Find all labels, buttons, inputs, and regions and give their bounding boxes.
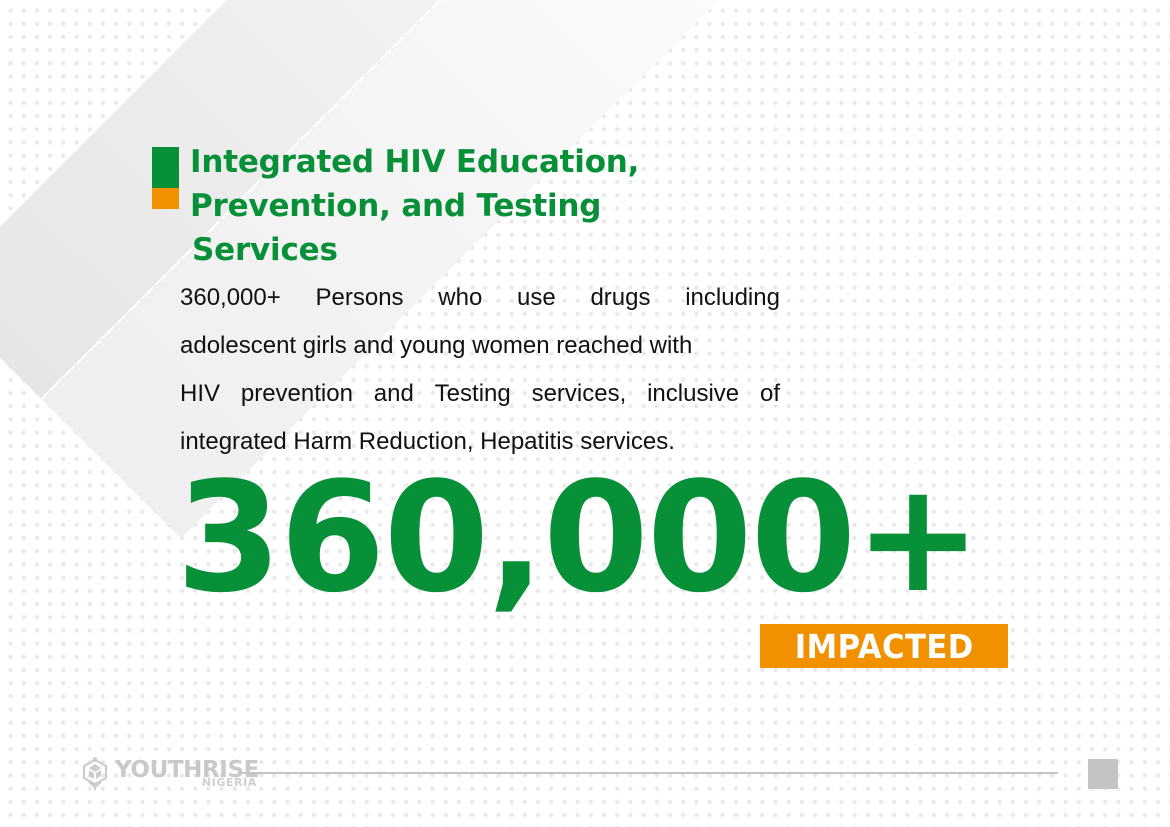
title-line-2: Prevention, and Testing — [190, 184, 972, 228]
body-word: inclusive — [647, 370, 739, 418]
slide-canvas: Integrated HIV Education, Prevention, an… — [0, 0, 1170, 827]
title-marker — [152, 147, 179, 209]
body-word: HIV — [180, 370, 220, 418]
progress-handle[interactable] — [1088, 759, 1118, 789]
stat-number: 360,000+ — [176, 462, 980, 614]
title-line-3: Services — [190, 228, 972, 272]
body-word: of — [760, 370, 780, 418]
body-word: who — [438, 274, 482, 322]
body-word: drugs — [590, 274, 650, 322]
page-title: Integrated HIV Education, Prevention, an… — [152, 140, 972, 272]
body-line-2: adolescent girls and young women reached… — [180, 322, 780, 370]
title-marker-green-square — [152, 147, 179, 188]
body-word: use — [517, 274, 556, 322]
youthrise-cube-icon — [80, 757, 110, 791]
body-line-3: HIV prevention and Testing services, inc… — [180, 370, 780, 418]
body-word: Persons — [316, 274, 404, 322]
title-block: Integrated HIV Education, Prevention, an… — [152, 140, 972, 272]
body-word: Testing — [435, 370, 511, 418]
footer: YOUTHRISE NIGERIA — [0, 752, 1170, 800]
title-marker-orange-square — [152, 188, 179, 209]
progress-track[interactable] — [238, 772, 1058, 774]
status-badge: IMPACTED — [760, 624, 1008, 668]
brand-wordmark: YOUTHRISE NIGERIA — [115, 757, 259, 791]
title-line-1: Integrated HIV Education, — [190, 140, 972, 184]
brand-subtitle: NIGERIA — [202, 777, 257, 788]
body-word: prevention — [241, 370, 353, 418]
status-badge-label: IMPACTED — [794, 630, 973, 663]
body-word: including — [685, 274, 780, 322]
body-word: 360,000+ — [180, 274, 281, 322]
body-word: services, — [532, 370, 627, 418]
body-paragraph: 360,000+ Persons who use drugs including… — [180, 274, 780, 466]
brand-logo: YOUTHRISE NIGERIA — [80, 752, 259, 796]
body-word: and — [374, 370, 414, 418]
body-line-1: 360,000+ Persons who use drugs including — [180, 274, 780, 322]
